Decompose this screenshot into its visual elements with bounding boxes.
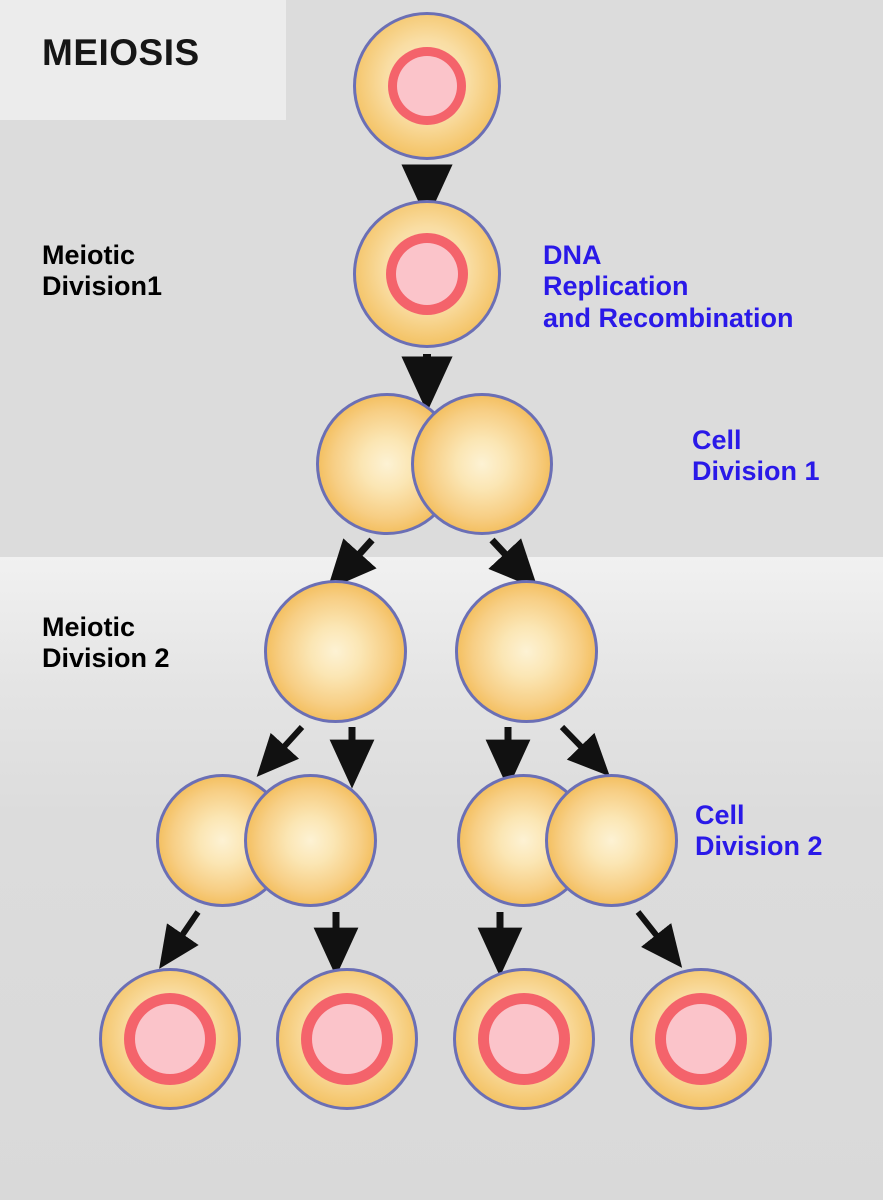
cell-division1-right (411, 393, 553, 535)
arrow-gamete-4 (638, 912, 668, 950)
cell-division2-d (545, 774, 678, 907)
arrow-division1-right (492, 540, 520, 570)
nucleoplasm-gamete-2 (312, 1004, 382, 1074)
cell-division2-b (244, 774, 377, 907)
nucleoplasm-gamete-4 (666, 1004, 736, 1074)
nucleoplasm-gamete-1 (135, 1004, 205, 1074)
nucleoplasm-parent (397, 56, 457, 116)
cell-meiosis2-right (455, 580, 598, 723)
arrow-meiosis2-right-b (562, 727, 594, 760)
nucleoplasm-gamete-3 (489, 1004, 559, 1074)
cell-meiosis2-left (264, 580, 407, 723)
meiosis-diagram: MEIOSIS Meiotic Division1 Meiotic Divisi… (0, 0, 883, 1200)
arrow-meiosis2-left-a (272, 727, 302, 760)
arrow-division1-left (345, 540, 372, 570)
arrow-gamete-1 (172, 912, 198, 950)
nucleoplasm-replicated (396, 243, 458, 305)
